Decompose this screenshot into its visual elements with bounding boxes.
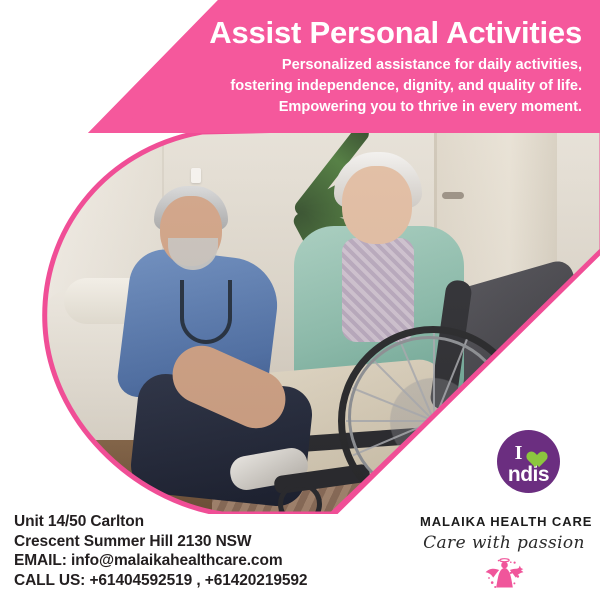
brand-tagline: Care with passion (420, 532, 588, 554)
angel-fairy-icon-svg (481, 556, 527, 590)
ndis-wordmark: ndis (508, 464, 549, 485)
contact-details: Unit 14/50 Carlton Crescent Summer Hill … (14, 512, 307, 590)
page-title: Assist Personal Activities (160, 14, 584, 52)
poster-canvas: Assist Personal Activities Personalized … (0, 0, 600, 600)
subtitle-line-1: Personalized assistance for daily activi… (160, 55, 582, 76)
subtitle-line-2: fostering independence, dignity, and qua… (160, 76, 582, 97)
ndis-i-letter: I (515, 443, 523, 463)
header-text-block: Assist Personal Activities Personalized … (160, 14, 584, 118)
brand-name: MALAIKA HEALTH CARE (420, 514, 588, 530)
contact-email[interactable]: EMAIL: info@malaikahealthcare.com (14, 551, 307, 571)
contact-address-line-2: Crescent Summer Hill 2130 NSW (14, 532, 307, 552)
contact-address-line-1: Unit 14/50 Carlton (14, 512, 307, 532)
ndis-badge-top-row: I (515, 441, 543, 465)
angel-fairy-icon (420, 555, 588, 591)
contact-phone[interactable]: CALL US: +61404592519 , +61420219592 (14, 571, 307, 591)
page-subtitle: Personalized assistance for daily activi… (160, 55, 584, 118)
ndis-badge: I ndis (497, 430, 560, 493)
subtitle-line-3: Empowering you to thrive in every moment… (160, 97, 582, 118)
heart-icon (523, 444, 542, 462)
brand-logo: MALAIKA HEALTH CARE Care with passion (420, 514, 588, 591)
